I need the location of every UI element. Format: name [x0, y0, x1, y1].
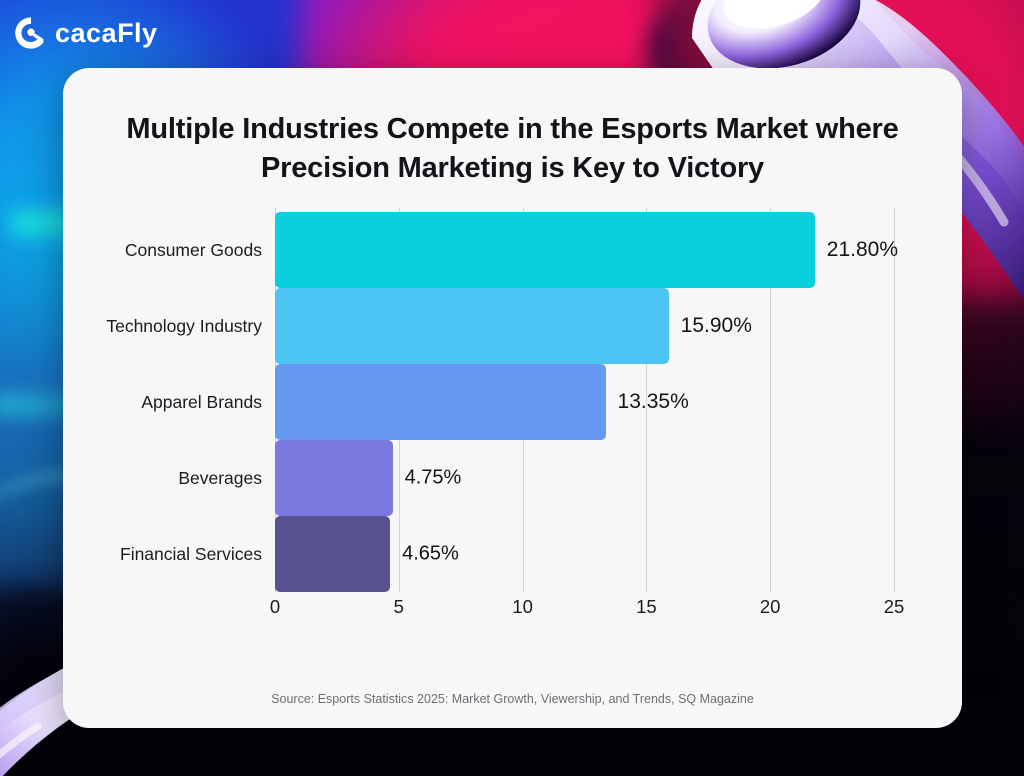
x-tick-20: 20 — [760, 596, 781, 618]
bar-apparel-brands[interactable]: 13.35% — [275, 364, 606, 440]
category-label-apparel-brands: Apparel Brands — [141, 392, 262, 413]
gridline-25 — [894, 208, 895, 592]
bar-value-label: 15.90% — [681, 314, 752, 338]
bar-consumer-goods[interactable]: 21.80% — [275, 212, 815, 288]
chart-title: Multiple Industries Compete in the Espor… — [119, 110, 906, 189]
bar-value-label: 4.65% — [402, 543, 459, 566]
plot-area: Consumer Goods21.80%Technology Industry1… — [275, 208, 894, 592]
bar-chart: Consumer Goods21.80%Technology Industry1… — [63, 202, 962, 652]
bar-series: Consumer Goods21.80%Technology Industry1… — [275, 208, 894, 592]
bar-row: Apparel Brands13.35% — [275, 364, 894, 440]
category-label-beverages: Beverages — [178, 468, 262, 489]
x-axis-ticks: 0510152025 — [275, 596, 894, 626]
x-tick-25: 25 — [884, 596, 905, 618]
source-caption: Source: Esports Statistics 2025: Market … — [63, 692, 962, 706]
bar-value-label: 4.75% — [405, 467, 462, 490]
cacafly-circle-icon — [12, 14, 50, 52]
cacafly-logo-text: cacaFly — [55, 18, 158, 49]
bar-row: Beverages4.75% — [275, 440, 894, 516]
bar-value-label: 21.80% — [827, 238, 898, 262]
x-tick-10: 10 — [512, 596, 533, 618]
bar-row: Financial Services4.65% — [275, 516, 894, 592]
chart-card: Multiple Industries Compete in the Espor… — [63, 68, 962, 728]
bar-value-label: 13.35% — [618, 390, 689, 414]
category-label-technology-industry: Technology Industry — [106, 316, 262, 337]
x-tick-5: 5 — [394, 596, 404, 618]
category-label-consumer-goods: Consumer Goods — [125, 240, 262, 261]
x-tick-15: 15 — [636, 596, 657, 618]
bar-beverages[interactable]: 4.75% — [275, 440, 393, 516]
bar-technology-industry[interactable]: 15.90% — [275, 288, 669, 364]
x-tick-0: 0 — [270, 596, 280, 618]
cacafly-logo[interactable]: cacaFly — [12, 14, 158, 52]
bar-row: Consumer Goods21.80% — [275, 212, 894, 288]
bar-row: Technology Industry15.90% — [275, 288, 894, 364]
category-label-financial-services: Financial Services — [120, 544, 262, 565]
bar-financial-services[interactable]: 4.65% — [275, 516, 390, 592]
